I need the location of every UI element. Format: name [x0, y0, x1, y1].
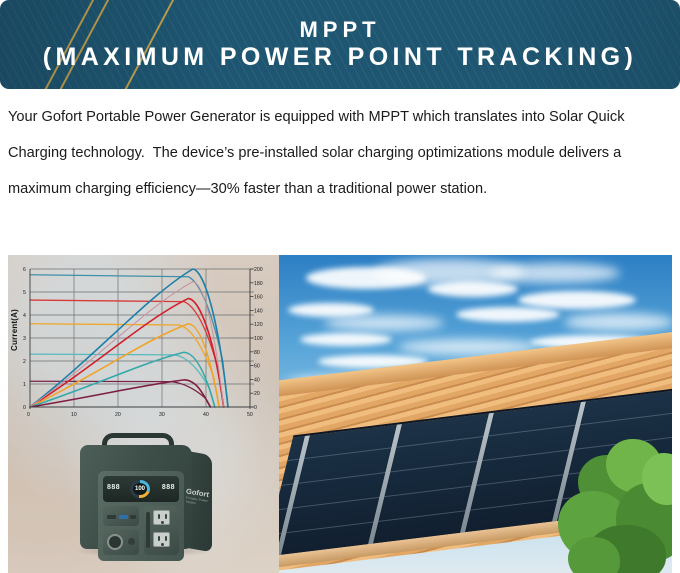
- banner-title-group: MPPT (MAXIMUM POWER POINT TRACKING): [0, 0, 680, 89]
- rooftop-solar-photo: [278, 255, 672, 573]
- svg-text:1: 1: [23, 382, 26, 388]
- svg-text:40: 40: [254, 377, 260, 383]
- svg-text:200: 200: [254, 267, 263, 273]
- page-subtitle: (MAXIMUM POWER POINT TRACKING): [43, 45, 637, 70]
- header-banner: MPPT (MAXIMUM POWER POINT TRACKING): [0, 0, 680, 89]
- page-title: MPPT: [299, 19, 380, 41]
- iv-curve-chart: 0102030405001234560204060801001201401601…: [8, 259, 279, 419]
- svg-text:180: 180: [254, 281, 263, 287]
- svg-text:100: 100: [254, 336, 263, 342]
- svg-text:3: 3: [23, 336, 26, 342]
- usb-c-port[interactable]: [119, 515, 128, 519]
- svg-text:0: 0: [23, 405, 26, 411]
- svg-text:20: 20: [254, 391, 260, 397]
- svg-text:50: 50: [247, 412, 253, 418]
- outlet-divider: [146, 512, 150, 548]
- svg-text:0: 0: [27, 412, 30, 418]
- cloud: [324, 315, 444, 331]
- cloud: [428, 281, 518, 297]
- svg-text:6: 6: [23, 267, 26, 273]
- svg-text:4: 4: [23, 313, 26, 319]
- lcd-output-watts: 888: [162, 484, 175, 491]
- battery-percent: 100: [133, 483, 147, 495]
- portable-power-station: 888 100 888: [66, 427, 218, 573]
- product-feature-page: MPPT (MAXIMUM POWER POINT TRACKING) Your…: [0, 0, 680, 573]
- svg-text:60: 60: [254, 364, 260, 370]
- panel-seam: [460, 413, 494, 533]
- svg-text:5: 5: [23, 290, 26, 296]
- feature-image: Current(A) 01020304050012345602040608010…: [8, 255, 672, 573]
- usb-a-port[interactable]: [107, 515, 116, 519]
- description-block: Your Gofort Portable Power Generator is …: [8, 99, 676, 207]
- ac-outlet[interactable]: [153, 532, 170, 547]
- car-socket-port[interactable]: [107, 534, 123, 550]
- cloud: [300, 333, 392, 346]
- battery-gauge-icon: 100: [130, 480, 150, 498]
- svg-text:20: 20: [115, 412, 121, 418]
- usb-port-block[interactable]: [103, 506, 139, 526]
- dc-output-block[interactable]: [103, 529, 139, 555]
- cloud: [456, 307, 560, 322]
- svg-text:40: 40: [203, 412, 209, 418]
- svg-text:140: 140: [254, 308, 263, 314]
- svg-text:160: 160: [254, 295, 263, 301]
- iv-curve-panel: Current(A) 01020304050012345602040608010…: [8, 255, 279, 573]
- svg-text:120: 120: [254, 322, 263, 328]
- panel-seam: [368, 424, 402, 544]
- svg-text:80: 80: [254, 350, 260, 356]
- dc-round-port[interactable]: [128, 538, 135, 545]
- device-body: 888 100 888: [80, 445, 192, 549]
- ac-outlet[interactable]: [153, 510, 170, 525]
- tree: [554, 429, 672, 573]
- device-front-face: 888 100 888: [98, 471, 184, 561]
- cloud: [564, 313, 672, 331]
- svg-text:10: 10: [71, 412, 77, 418]
- svg-text:0: 0: [254, 405, 257, 411]
- cloud: [518, 291, 636, 309]
- dc-port[interactable]: [130, 515, 136, 519]
- lcd-display: 888 100 888: [103, 476, 179, 502]
- cloud: [490, 263, 620, 283]
- svg-text:2: 2: [23, 359, 26, 365]
- ac-outlet-block[interactable]: [144, 506, 179, 555]
- svg-text:30: 30: [159, 412, 165, 418]
- lcd-input-watts: 888: [107, 484, 120, 491]
- description-paragraph: Your Gofort Portable Power Generator is …: [8, 99, 676, 207]
